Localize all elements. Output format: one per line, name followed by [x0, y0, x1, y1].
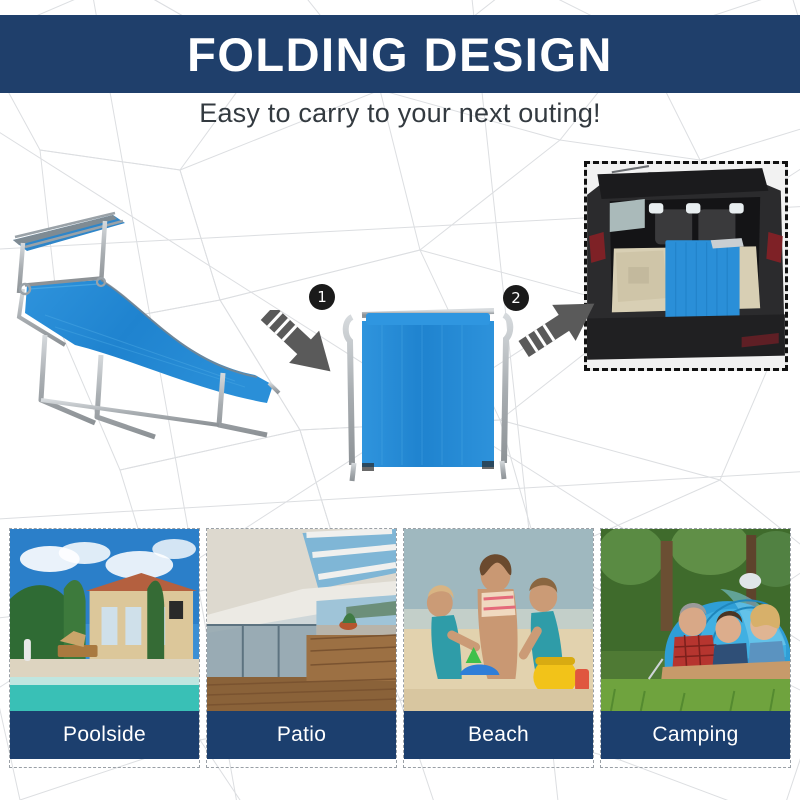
beach-photo: [404, 529, 593, 711]
step-marker-1: 1: [309, 284, 335, 310]
lounger-folded-image: [338, 295, 518, 495]
tile-camping[interactable]: Camping: [600, 528, 791, 768]
poolside-photo: [10, 529, 199, 711]
patio-photo: [207, 529, 396, 711]
suv-trunk-image: [584, 161, 788, 371]
tile-label-patio: Patio: [207, 711, 396, 759]
tile-beach[interactable]: Beach: [403, 528, 594, 768]
arrow-load-up-icon: [515, 295, 605, 357]
tile-patio[interactable]: Patio: [206, 528, 397, 768]
step-marker-2: 2: [503, 285, 529, 311]
tile-label-beach: Beach: [404, 711, 593, 759]
tile-poolside[interactable]: Poolside: [9, 528, 200, 768]
hero-stage: 1 2: [0, 140, 800, 525]
tile-label-camping: Camping: [601, 711, 790, 759]
header-banner: FOLDING DESIGN: [0, 15, 800, 93]
page-title: FOLDING DESIGN: [187, 31, 613, 78]
arrow-fold-down-icon: [252, 310, 347, 375]
product-infographic: FOLDING DESIGN Easy to carry to your nex…: [0, 0, 800, 800]
page-subtitle: Easy to carry to your next outing!: [0, 98, 800, 129]
usage-scenarios: Poolside: [0, 528, 800, 768]
tile-label-poolside: Poolside: [10, 711, 199, 759]
camping-photo: [601, 529, 790, 711]
